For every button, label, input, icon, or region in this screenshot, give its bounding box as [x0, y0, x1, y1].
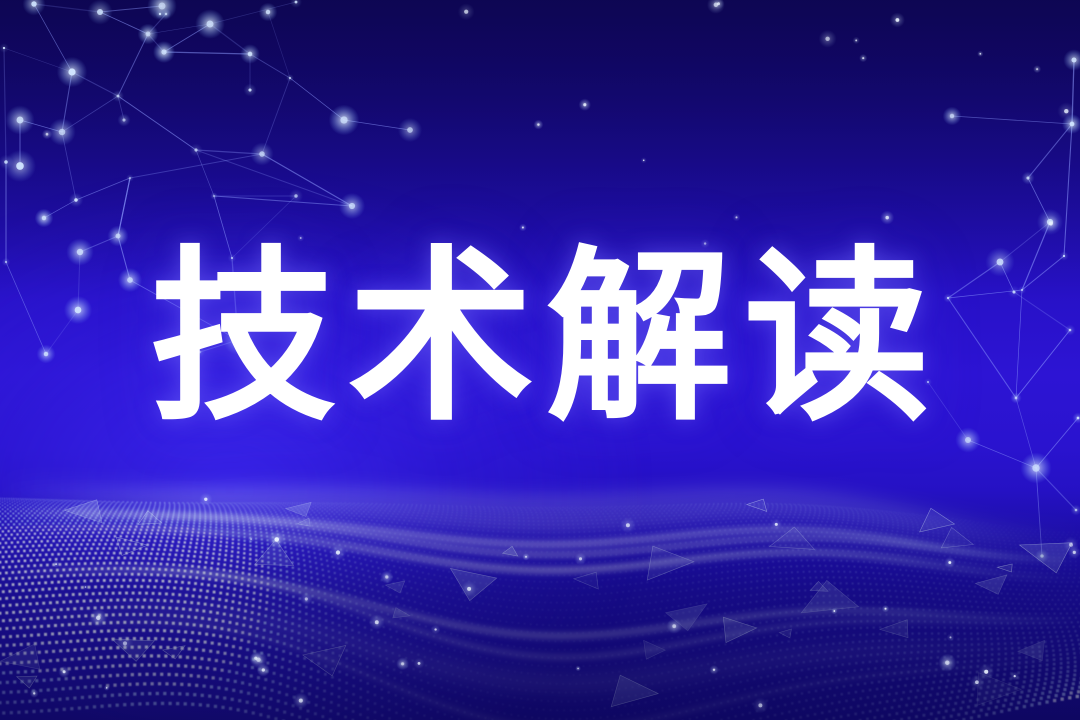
- page-title: 技术解读: [138, 245, 942, 431]
- tech-banner: 技术解读: [0, 0, 1080, 720]
- background-vignette-bottom: [0, 490, 1080, 720]
- title-block: 技术解读: [0, 245, 1080, 431]
